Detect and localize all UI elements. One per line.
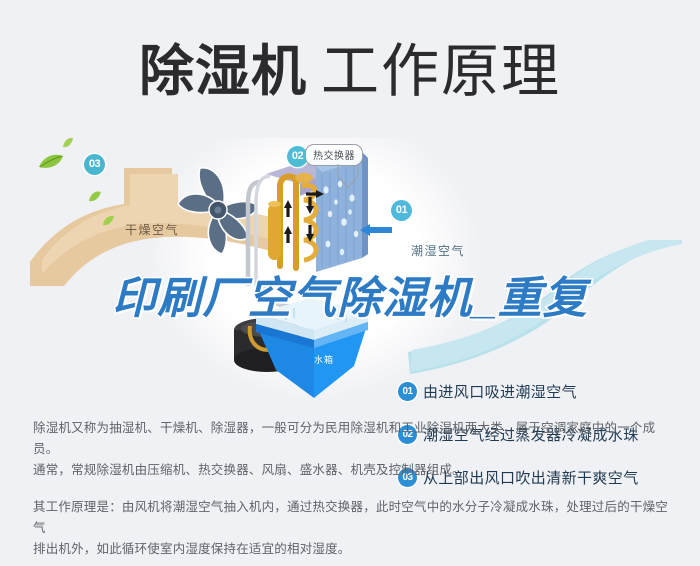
paragraph-2-line-1: 其工作原理是：由风机将潮湿空气抽入机内，通过热交换器，此时空气中的水分子冷凝成水…: [33, 500, 668, 535]
leaf-icon: [38, 154, 64, 175]
diagram-badge-01: 01: [391, 200, 412, 221]
paragraph-1-line-1: 除湿机又称为抽湿机、干燥机、除湿器，一般可分为民用除湿机和工业除湿机两大类，属于…: [33, 421, 655, 456]
paragraph-2-line-2: 排出机外，如此循环使室内湿度保持在适宜的相对湿度。: [33, 542, 351, 556]
step-text: 由进风口吸进潮湿空气: [423, 381, 577, 402]
paragraph-1-line-2: 通常，常规除湿机由压缩机、热交换器、风扇、盛水器、机壳及控制器组成。: [33, 463, 465, 477]
callout-leader-line: [336, 162, 362, 190]
label-dry-air: 干燥空气: [125, 221, 179, 238]
leaf-icon: [102, 214, 115, 232]
page-title-bold: 除湿机: [139, 40, 307, 102]
paragraph-1: 除湿机又称为抽湿机、干燥机、除湿器，一般可分为民用除湿机和工业除湿机两大类，属于…: [33, 418, 673, 481]
page-title-light: 工作原理: [321, 39, 561, 104]
page-title: 除湿机工作原理: [0, 24, 700, 108]
step-badge: 01: [398, 382, 417, 401]
body-copy: 除湿机又称为抽湿机、干燥机、除湿器，一般可分为民用除湿机和工业除湿机两大类，属于…: [33, 418, 673, 560]
paragraph-2: 其工作原理是：由风机将潮湿空气抽入机内，通过热交换器，此时空气中的水分子冷凝成水…: [33, 497, 673, 560]
infographic-page: 除湿机工作原理: [0, 0, 700, 566]
leaf-icon: [88, 190, 102, 208]
label-humid-air: 潮湿空气: [411, 242, 465, 259]
step-item: 01 由进风口吸进潮湿空气: [398, 376, 684, 406]
water-tank-label: 水箱: [314, 353, 334, 366]
diagram-badge-03: 03: [84, 154, 105, 175]
watermark-overlay: 印刷厂空气除湿机_重复: [0, 262, 700, 326]
leaf-icon: [62, 136, 74, 154]
